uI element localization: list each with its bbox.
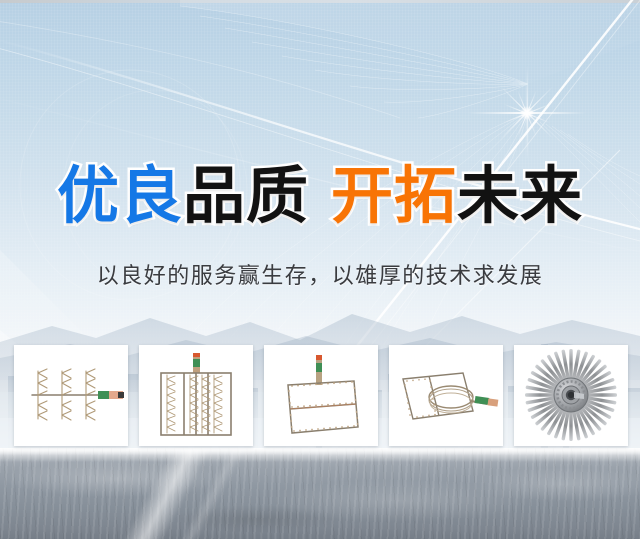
headline-segment-3: 开拓 [331, 165, 457, 227]
headline: 优良品质开拓未来 [0, 165, 640, 227]
product-card[interactable] [139, 345, 253, 446]
headline-segment-1: 优良 [57, 165, 183, 227]
ring-frame-heating-element-icon [389, 345, 503, 446]
promo-banner: 优良品质开拓未来 以良好的服务赢生存，以雄厚的技术求发展 [0, 0, 640, 539]
comb-rack-heating-element-icon [14, 345, 128, 446]
product-card[interactable] [514, 345, 628, 446]
product-card[interactable] [389, 345, 503, 446]
square-frame-heating-panel-icon [264, 345, 378, 446]
subtitle: 以良好的服务赢生存，以雄厚的技术求发展 [0, 258, 640, 290]
product-card[interactable] [264, 345, 378, 446]
radial-star-heating-disc-icon [514, 345, 628, 446]
product-card-strip [14, 345, 628, 446]
ground-top-gloss [0, 448, 640, 462]
banner-top-edge [0, 0, 640, 3]
headline-segment-2: 品质 [183, 165, 309, 227]
product-card[interactable] [14, 345, 128, 446]
dense-fin-heating-rack-icon [139, 345, 253, 446]
headline-segment-4: 未来 [457, 165, 583, 227]
ground-surface [0, 448, 640, 539]
